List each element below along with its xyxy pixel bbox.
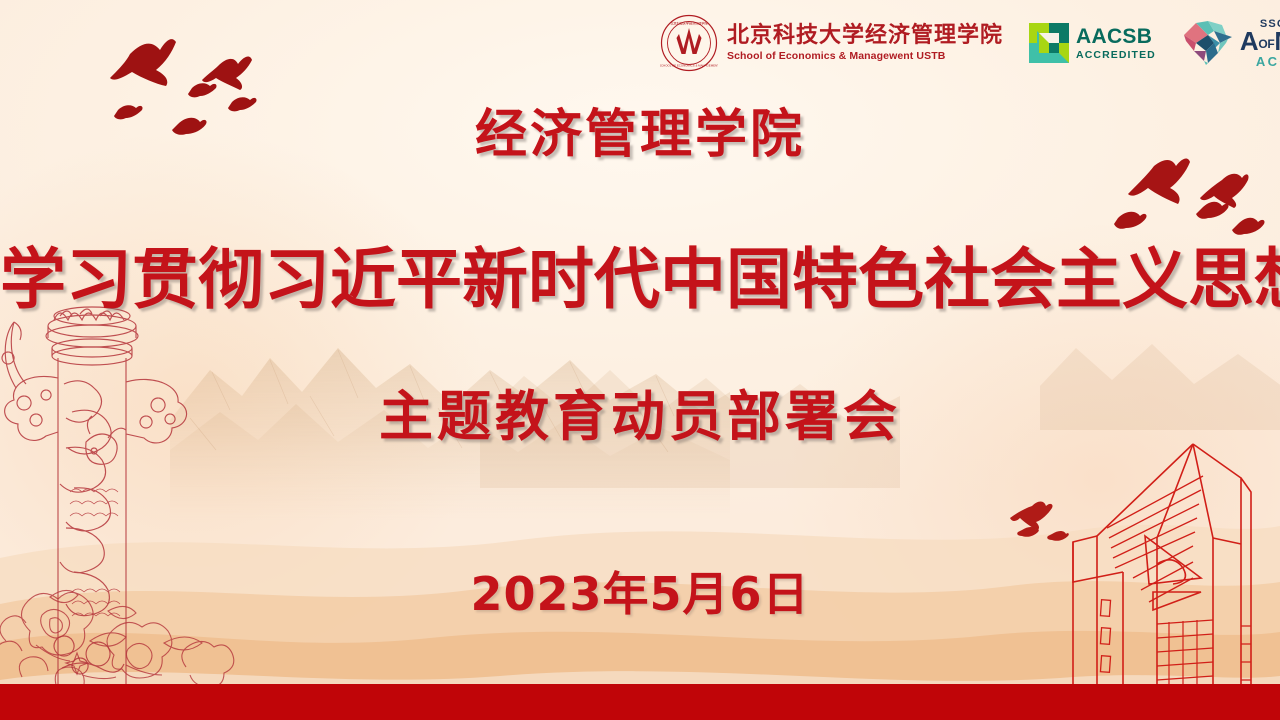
flying-birds-middle-right-icon bbox=[1002, 498, 1080, 546]
title-line-2: 学习贯彻习近平新时代中国特色社会主义思想 bbox=[0, 226, 1280, 322]
event-date: 2023年5月6日 bbox=[0, 558, 1280, 624]
ustb-sem-logo: 北京科技大学经济管理学院 SCHOOL OF ECONOMICS & MANAG… bbox=[660, 14, 1003, 72]
aacsb-logo-text: AACSB ACCREDITED bbox=[1076, 26, 1156, 61]
amba-name: AOFMBAS bbox=[1240, 28, 1280, 54]
title-line-3: 主题教育动员部署会 bbox=[0, 372, 1280, 451]
aacsb-logo-icon bbox=[1029, 23, 1069, 63]
svg-text:SCHOOL OF ECONOMICS & MANAGEME: SCHOOL OF ECONOMICS & MANAGEMENT bbox=[660, 64, 718, 68]
amba-accreditation-logo: SSOCIATION AOFMBAS ACCREDITED bbox=[1182, 19, 1280, 68]
title-line-1: 经济管理学院 bbox=[0, 92, 1280, 167]
amba-a: A bbox=[1240, 26, 1258, 56]
ustb-logo-text: 北京科技大学经济管理学院 School of Economics & Manag… bbox=[727, 24, 1003, 61]
bottom-red-band bbox=[0, 684, 1280, 720]
svg-text:北京科技大学经济管理学院: 北京科技大学经济管理学院 bbox=[670, 21, 707, 26]
ustb-sem-seal-icon: 北京科技大学经济管理学院 SCHOOL OF ECONOMICS & MANAG… bbox=[660, 14, 718, 72]
header-logo-row: 北京科技大学经济管理学院 SCHOOL OF ECONOMICS & MANAG… bbox=[660, 14, 1280, 72]
ustb-chinese-name: 北京科技大学经济管理学院 bbox=[727, 24, 1003, 47]
ustb-english-name: School of Economics & Managewent USTB bbox=[727, 50, 1003, 62]
amba-of: OF bbox=[1258, 37, 1274, 51]
amba-mba: MBA bbox=[1274, 26, 1280, 56]
amba-diamond-icon bbox=[1182, 19, 1234, 67]
aacsb-accredited-label: ACCREDITED bbox=[1076, 50, 1156, 61]
amba-logo-text: SSOCIATION AOFMBAS ACCREDITED bbox=[1240, 19, 1280, 68]
amba-accredited-label: ACCREDITED bbox=[1256, 55, 1280, 68]
aacsb-accreditation-logo: AACSB ACCREDITED bbox=[1029, 23, 1156, 63]
aacsb-name: AACSB bbox=[1076, 26, 1156, 47]
presentation-slide: 北京科技大学经济管理学院 SCHOOL OF ECONOMICS & MANAG… bbox=[0, 0, 1280, 720]
